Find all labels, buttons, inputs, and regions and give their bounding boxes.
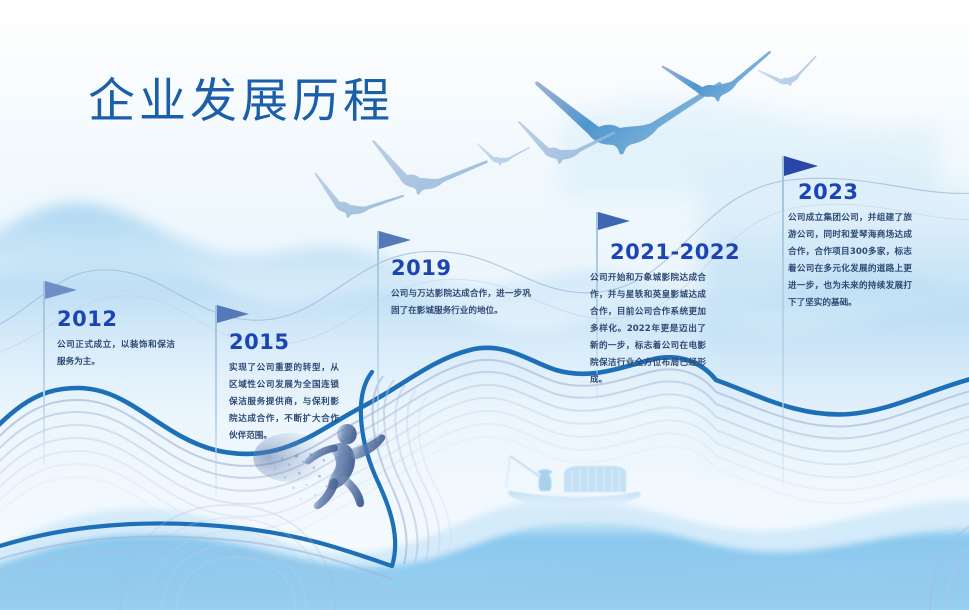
milestone-description: 实现了公司重要的转型，从区域性公司发展为全国连锁保洁服务提供商，与保利影院达成合… <box>229 360 339 445</box>
milestone-description: 公司开始和万象城影院达成合作，并与星轶和英皇影城达成合作，目前公司合作系统更加多… <box>590 270 706 389</box>
milestone-description: 公司正式成立，以装饰和保洁服务为主。 <box>57 337 175 371</box>
page-title: 企业发展历程 <box>88 62 394 131</box>
flag-pole <box>43 281 45 466</box>
poster-canvas: 企业发展历程 2012 公司正式成立，以装饰和保洁服务为主。 2015 实现了公… <box>0 0 969 610</box>
milestone-year: 2019 <box>391 256 451 280</box>
flag-icon <box>379 231 411 249</box>
flag-icon <box>217 305 249 323</box>
flag-pole <box>377 231 379 441</box>
milestone-description: 公司与万达影院达成合作，进一步巩固了在影城服务行业的地位。 <box>391 286 531 320</box>
milestone-year: 2015 <box>229 330 289 354</box>
flag-icon <box>784 156 818 176</box>
flag-pole <box>782 156 784 486</box>
milestone-description: 公司成立集团公司，并组建了旅游公司，同时和爱琴海商场达成合作，合作项目300多家… <box>788 210 912 312</box>
flag-pole <box>215 305 217 497</box>
milestone-year: 2021-2022 <box>610 240 740 264</box>
flag-icon <box>45 281 77 299</box>
flag-icon <box>598 212 630 230</box>
milestone-year: 2012 <box>57 307 117 331</box>
milestone-year: 2023 <box>798 180 858 204</box>
